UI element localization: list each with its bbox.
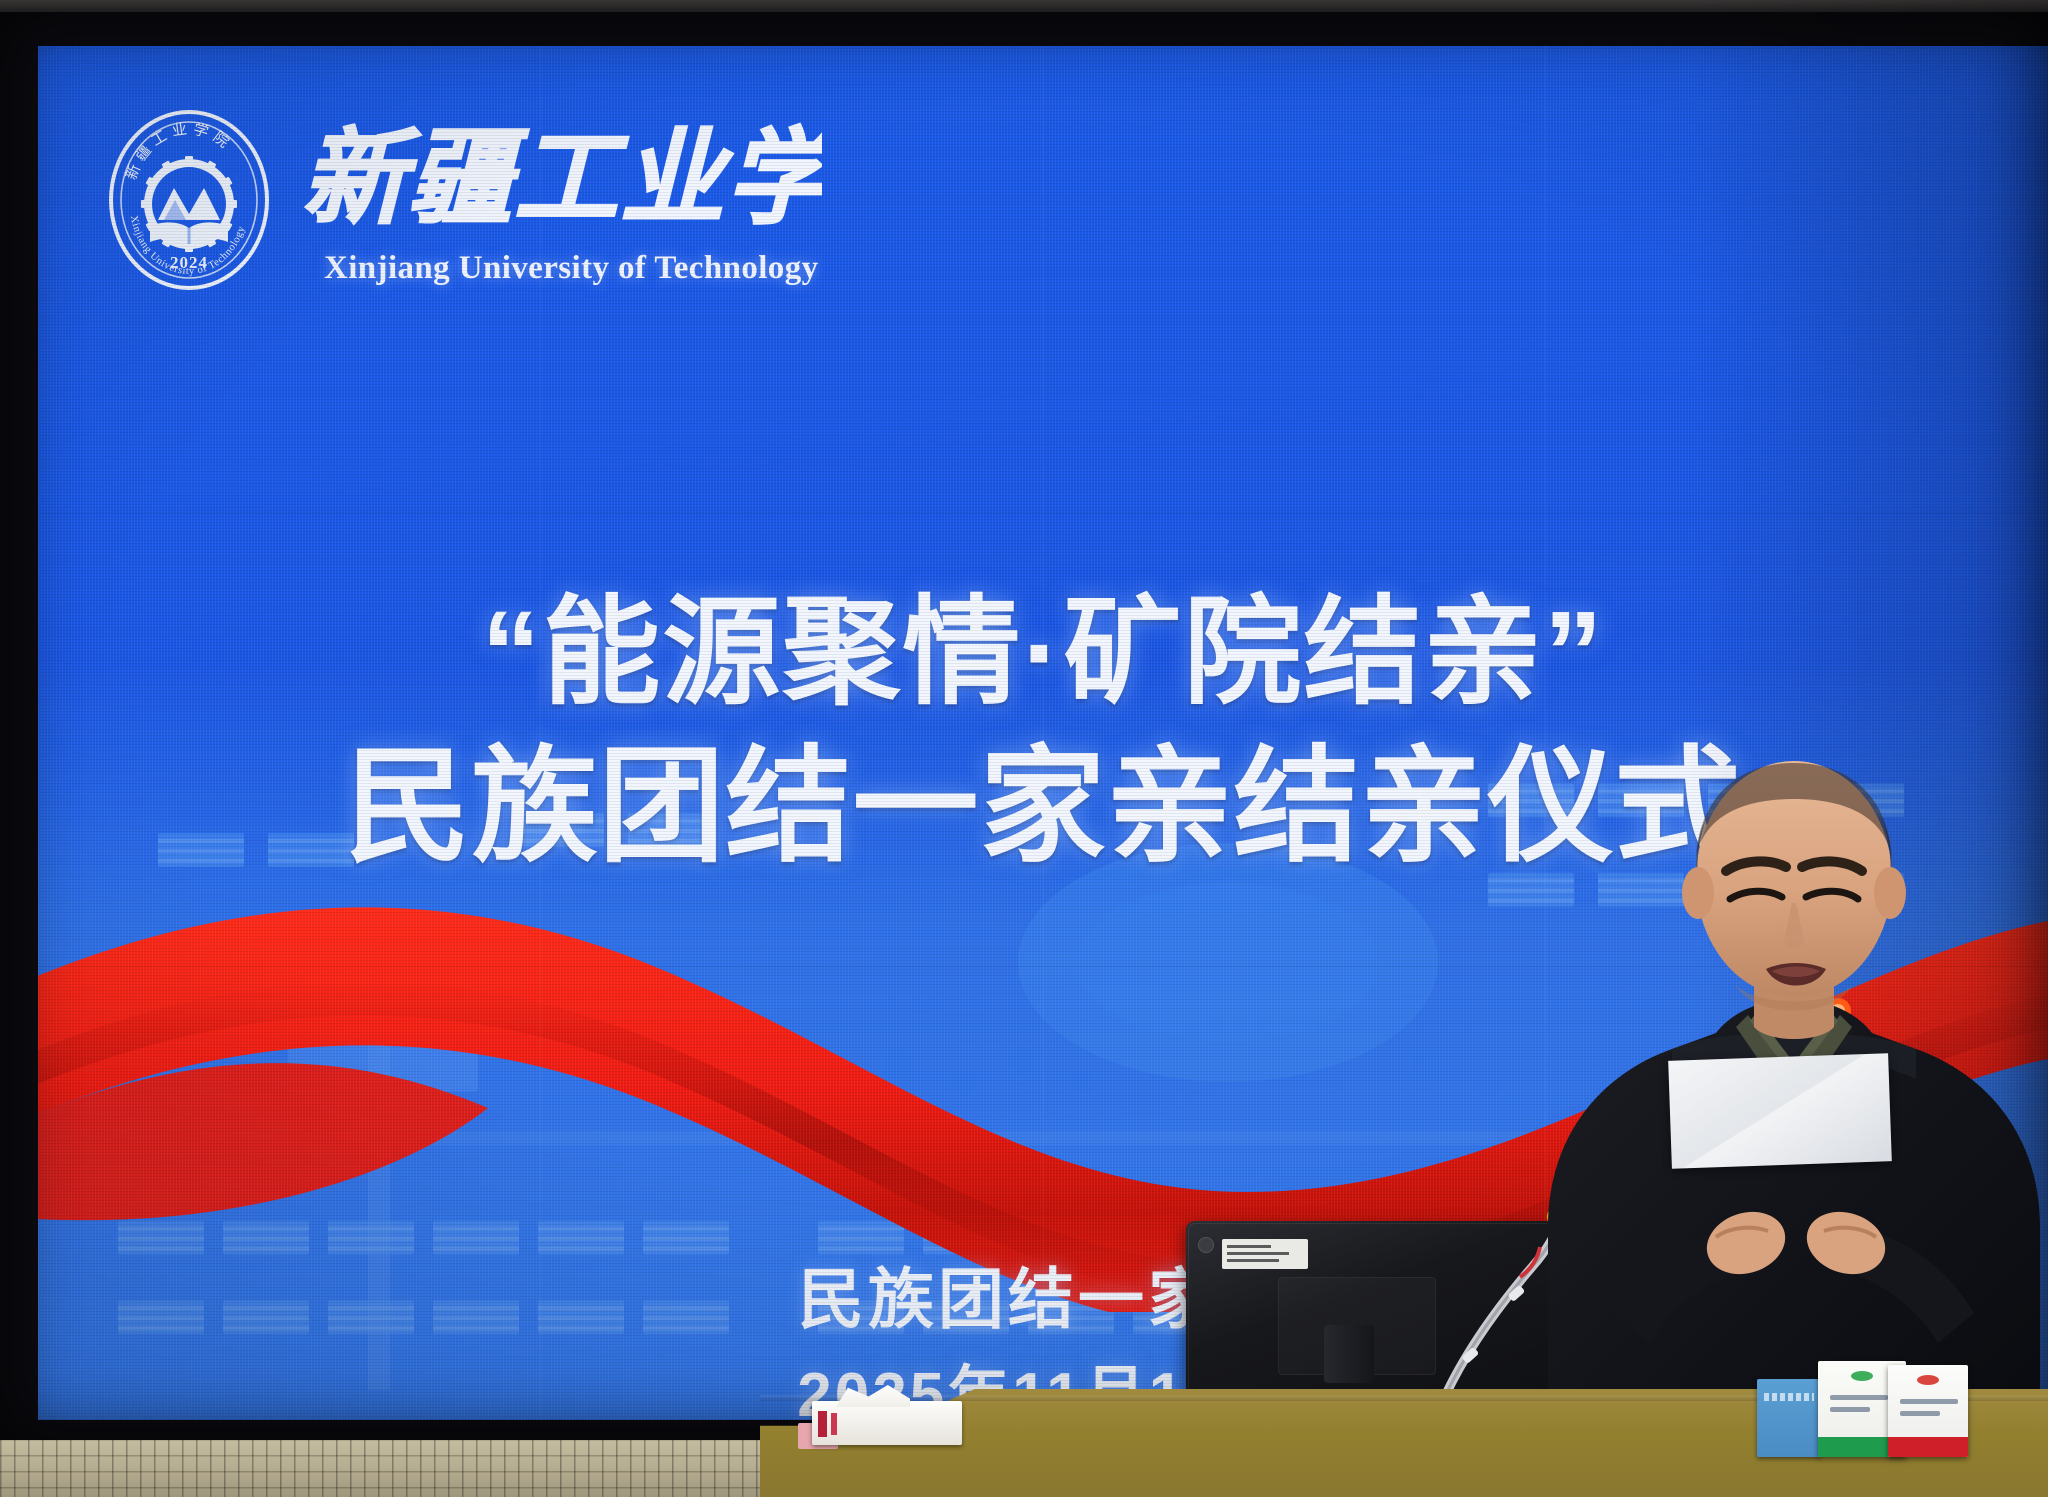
product-box-logo-icon [1851,1371,1873,1381]
monitor-power-icon [1198,1237,1214,1253]
blue-folder-box [1757,1379,1821,1457]
tissue-box-stripe [831,1413,837,1435]
wordmark-cn: 新疆工业学院 [302,114,822,246]
university-branding: 新疆工业学院 Xinjiang University of Technology [106,108,822,292]
svg-text:新疆工业学院: 新疆工业学院 [123,120,237,182]
svg-text:2024: 2024 [170,253,208,272]
tissue-box [812,1401,962,1445]
slide-title-line-1: “能源聚情·矿院结亲” [38,586,2048,721]
university-crest-icon: 新疆工业学院 Xinjiang University of Technology [106,108,272,292]
screenshot-root: 新疆工业学院 Xinjiang University of Technology [0,0,2048,1497]
monitor-stem [1324,1325,1374,1383]
product-box-logo-icon [1917,1375,1939,1385]
product-box-band [1888,1437,1968,1457]
wordmark-en: Xinjiang University of Technology [324,250,822,287]
product-box-red [1888,1365,1968,1457]
university-wordmark: 新疆工业学院 Xinjiang University of Technology [302,114,822,287]
monitor-label-sticker [1222,1239,1308,1269]
speech-notes-paper [1668,1053,1892,1169]
tissue-box-stripe [818,1411,827,1437]
svg-text:Xinjiang University of Technol: Xinjiang University of Technology [128,215,248,278]
blue-folder-box-text [1764,1393,1814,1401]
svg-text:新疆工业学院: 新疆工业学院 [302,122,822,237]
